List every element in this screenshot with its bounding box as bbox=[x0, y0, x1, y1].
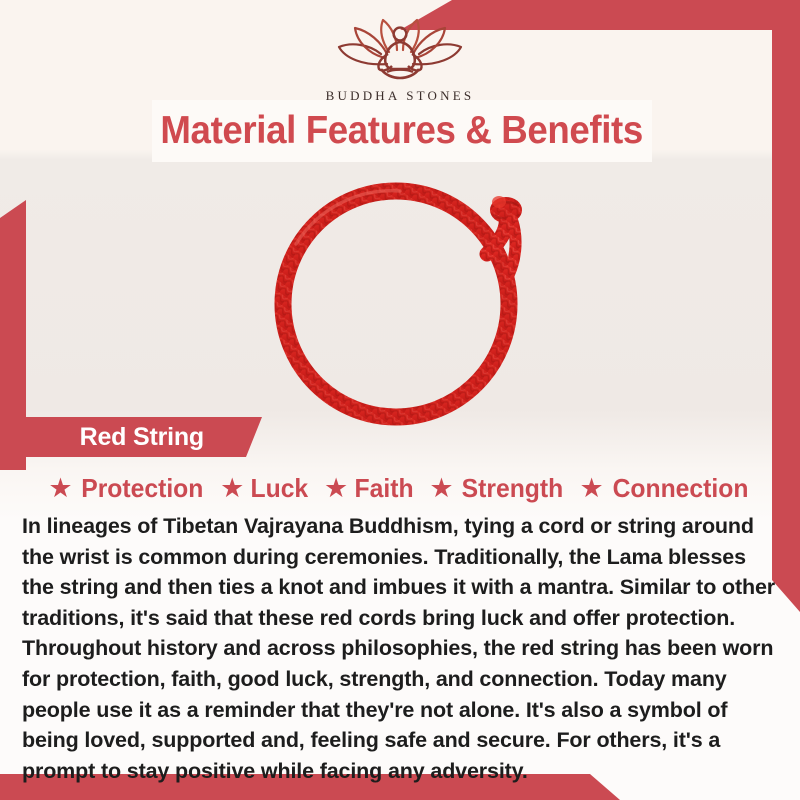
benefit-label: Protection bbox=[81, 473, 203, 504]
page-title: Material Features & Benefits bbox=[161, 109, 644, 153]
benefit-label: Luck bbox=[251, 473, 309, 504]
benefit-item-luck: ★ Luck bbox=[220, 473, 310, 504]
benefit-label: Connection bbox=[612, 473, 748, 504]
red-string-bracelet-illustration bbox=[250, 162, 550, 434]
star-icon: ★ bbox=[429, 475, 453, 502]
star-icon: ★ bbox=[220, 475, 244, 502]
product-label: Red String bbox=[80, 423, 262, 452]
description-text: In lineages of Tibetan Vajrayana Buddhis… bbox=[22, 511, 778, 786]
benefit-item-faith: ★ Faith bbox=[324, 473, 415, 504]
star-icon: ★ bbox=[48, 475, 72, 502]
infographic-page: BUDDHA STONES Material Features & Benefi… bbox=[0, 0, 800, 800]
brand-logo: BUDDHA STONES bbox=[0, 14, 800, 104]
benefit-label: Faith bbox=[355, 473, 414, 504]
benefit-item-connection: ★ Connection bbox=[579, 473, 751, 504]
benefits-list: ★ Protection ★ Luck ★ Faith ★ Strength ★… bbox=[0, 466, 800, 510]
lotus-meditation-icon bbox=[325, 14, 475, 86]
brand-name: BUDDHA STONES bbox=[326, 88, 475, 104]
star-icon: ★ bbox=[579, 475, 603, 502]
product-label-banner: Red String bbox=[0, 417, 262, 457]
product-image bbox=[0, 158, 800, 438]
title-banner: Material Features & Benefits bbox=[152, 100, 652, 162]
benefit-item-strength: ★ Strength bbox=[429, 473, 565, 504]
benefit-item-protection: ★ Protection bbox=[48, 473, 206, 504]
benefit-label: Strength bbox=[461, 473, 563, 504]
star-icon: ★ bbox=[324, 475, 348, 502]
